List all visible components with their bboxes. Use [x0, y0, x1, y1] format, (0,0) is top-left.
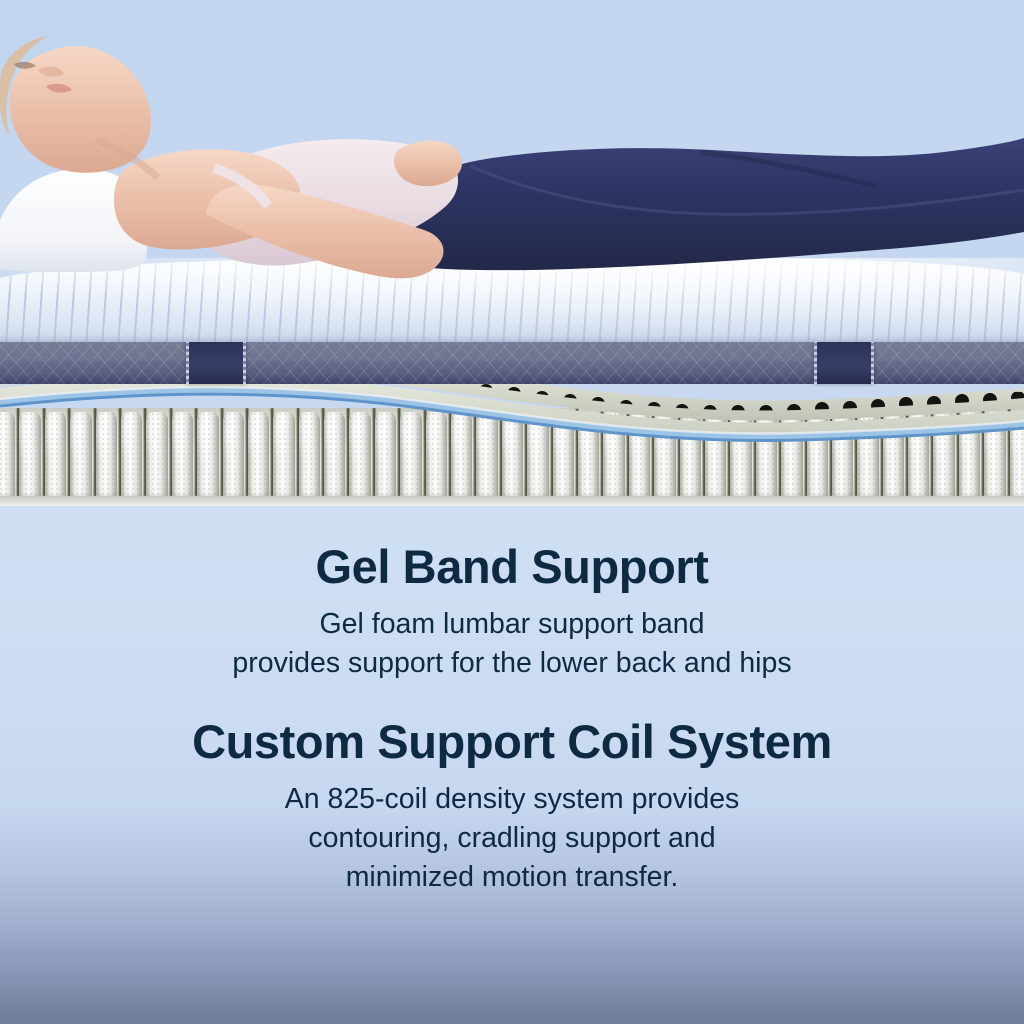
border-gusset-band — [0, 336, 1024, 384]
body-custom-support-coil-system: An 825-coil density system provides cont… — [0, 766, 1024, 896]
hero-image — [0, 0, 1024, 506]
copy-line: An 825-coil density system provides — [0, 780, 1024, 819]
feature-copy: Gel Band Support Gel foam lumbar support… — [0, 506, 1024, 1024]
copy-line: contouring, cradling support and — [0, 819, 1024, 858]
copy-line: provides support for the lower back and … — [0, 644, 1024, 683]
mattress-handle — [186, 340, 246, 384]
section-custom-support-coil-system: Custom Support Coil System An 825-coil d… — [0, 683, 1024, 897]
section-gel-band-support: Gel Band Support Gel foam lumbar support… — [0, 506, 1024, 683]
body-gel-band-support: Gel foam lumbar support band provides su… — [0, 591, 1024, 683]
sleeper-figure — [0, 0, 1024, 340]
heading-custom-support-coil-system: Custom Support Coil System — [0, 683, 1024, 766]
hand — [394, 141, 462, 187]
feature-panel: Gel Band Support Gel foam lumbar support… — [0, 0, 1024, 1024]
coil-base-strip — [0, 496, 1024, 506]
copy-line: Gel foam lumbar support band — [0, 605, 1024, 644]
heading-gel-band-support: Gel Band Support — [0, 506, 1024, 591]
mattress-handle — [814, 340, 874, 384]
copy-line: minimized motion transfer. — [0, 858, 1024, 897]
